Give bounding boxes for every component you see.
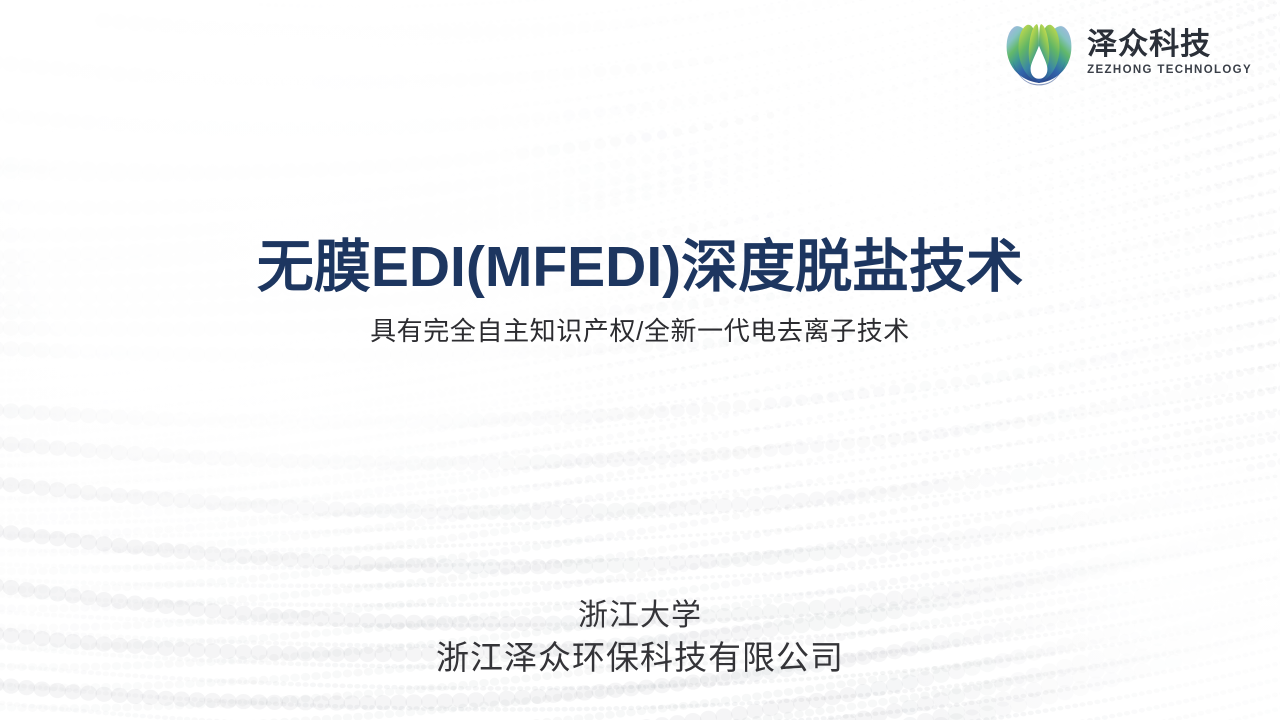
affiliation-company: 浙江泽众环保科技有限公司	[0, 636, 1280, 680]
affiliation-organization: 浙江大学	[0, 596, 1280, 636]
brand-name-en: ZEZHONG TECHNOLOGY	[1087, 65, 1252, 77]
title-group: 无膜EDI(MFEDI)深度脱盐技术 具有完全自主知识产权/全新一代电去离子技术	[0, 236, 1280, 347]
brand-wordmark: 泽众科技 ZEZHONG TECHNOLOGY	[1087, 30, 1252, 77]
page-subtitle: 具有完全自主知识产权/全新一代电去离子技术	[0, 316, 1280, 347]
title-slide: 泽众科技 ZEZHONG TECHNOLOGY 无膜EDI(MFEDI)深度脱盐…	[0, 0, 1280, 720]
affiliation-block: 浙江大学 浙江泽众环保科技有限公司	[0, 596, 1280, 679]
brand-logo: 泽众科技 ZEZHONG TECHNOLOGY	[1003, 18, 1252, 88]
page-title: 无膜EDI(MFEDI)深度脱盐技术	[0, 236, 1280, 300]
lotus-waterdrop-logo-icon	[1003, 18, 1075, 88]
brand-name-cn: 泽众科技	[1087, 30, 1211, 60]
